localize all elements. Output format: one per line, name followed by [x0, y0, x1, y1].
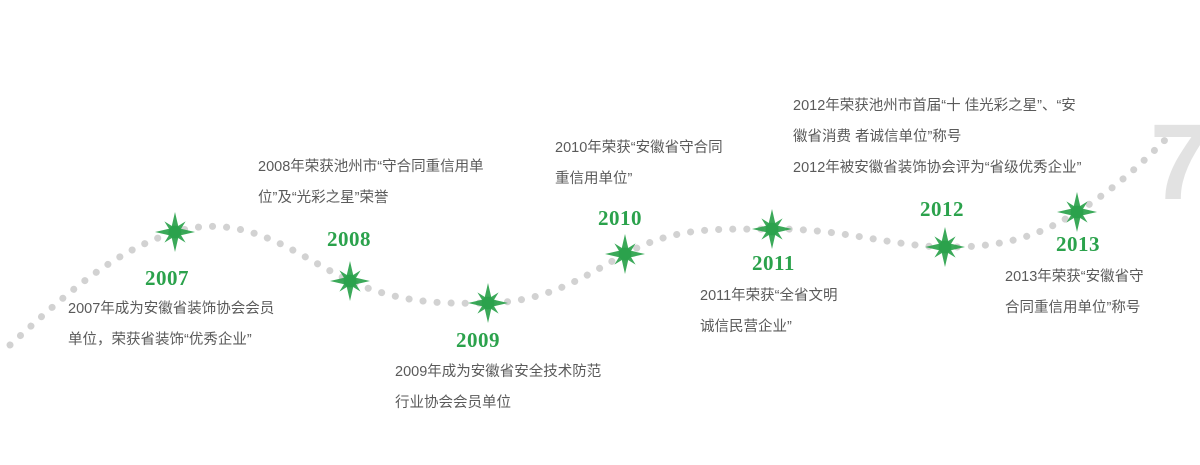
description-line: 2009年成为安徽省安全技术防范	[395, 357, 601, 388]
year-label-2010: 2010	[598, 206, 642, 231]
description-2013: 2013年荣获“安徽省守合同重信用单位”称号	[1005, 262, 1144, 324]
year-label-2012: 2012	[920, 197, 964, 222]
burst-star-icon-2013	[1055, 190, 1099, 234]
burst-star-icon-2010	[603, 232, 647, 276]
description-line: 行业协会会员单位	[395, 388, 601, 419]
description-line: 合同重信用单位”称号	[1005, 293, 1144, 324]
description-2008: 2008年荣获池州市“守合同重信用单位”及“光彩之星”荣誉	[258, 152, 484, 214]
burst-star-icon-2012	[923, 225, 967, 269]
year-label-2011: 2011	[752, 251, 795, 276]
description-line: 2011年荣获“全省文明	[700, 281, 838, 312]
timeline-infographic: 7 20072007年成为安徽省装饰协会会员单位，荣获省装饰“优秀企业”2008…	[0, 0, 1200, 465]
year-label-2009: 2009	[456, 328, 500, 353]
description-2007: 2007年成为安徽省装饰协会会员单位，荣获省装饰“优秀企业”	[68, 294, 274, 356]
burst-star-icon-2009	[466, 281, 510, 325]
burst-star-icon-2008	[328, 259, 372, 303]
description-line: 2012年被安徽省装饰协会评为“省级优秀企业”	[793, 153, 1081, 184]
description-line: 2007年成为安徽省装饰协会会员	[68, 294, 274, 325]
year-label-2013: 2013	[1056, 232, 1100, 257]
description-2011: 2011年荣获“全省文明诚信民营企业”	[700, 281, 838, 343]
description-2010: 2010年荣获“安徽省守合同重信用单位”	[555, 133, 723, 195]
year-label-2007: 2007	[145, 266, 189, 291]
description-line: 位”及“光彩之星”荣誉	[258, 183, 484, 214]
description-line: 单位，荣获省装饰“优秀企业”	[68, 325, 274, 356]
year-label-2008: 2008	[327, 227, 371, 252]
description-line: 2013年荣获“安徽省守	[1005, 262, 1144, 293]
description-2012: 2012年荣获池州市首届“十 佳光彩之星”、“安徽省消费 者诚信单位”称号201…	[793, 91, 1081, 184]
description-2009: 2009年成为安徽省安全技术防范行业协会会员单位	[395, 357, 601, 419]
burst-star-icon-2011	[750, 207, 794, 251]
description-line: 重信用单位”	[555, 164, 723, 195]
burst-star-icon-2007	[153, 210, 197, 254]
description-line: 2012年荣获池州市首届“十 佳光彩之星”、“安	[793, 91, 1081, 122]
description-line: 2010年荣获“安徽省守合同	[555, 133, 723, 164]
description-line: 徽省消费 者诚信单位”称号	[793, 122, 1081, 153]
description-line: 2008年荣获池州市“守合同重信用单	[258, 152, 484, 183]
description-line: 诚信民营企业”	[700, 312, 838, 343]
